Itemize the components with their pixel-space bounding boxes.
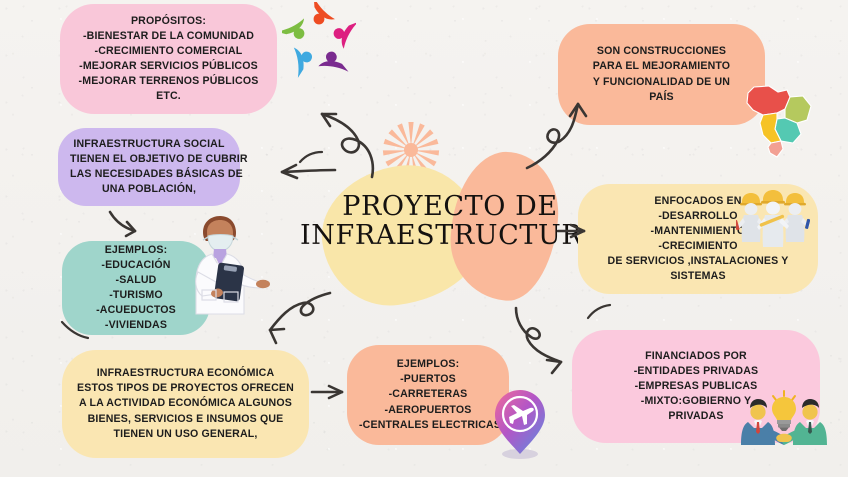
node-economica-line-1: ESTOS TIPOS DE PROYECTOS OFRECEN [74, 381, 297, 396]
node-propositos-line-1: -BIENESTAR DE LA COMUNIDAD [72, 29, 265, 44]
page-title: PROYECTO DE INFRAESTRUCTURA [300, 192, 600, 250]
node-ejemplos-social-line-0: EJEMPLOS: [74, 243, 198, 258]
node-ejemplos-econ-line-2: -CARRETERAS [359, 387, 497, 402]
node-propositos-line-0: PROPÓSITOS: [72, 14, 265, 29]
node-economica-line-4: TIENEN UN USO GENERAL, [74, 427, 297, 442]
node-construcciones-line-3: PAÍS [570, 90, 753, 105]
center-topic-group: PROYECTO DE INFRAESTRUCTURA [300, 150, 600, 320]
node-infraestructura-social[interactable]: INFRAESTRUCTURA SOCIAL TIENEN EL OBJETIV… [58, 128, 240, 206]
node-construcciones-line-1: PARA EL MEJORAMIENTO [570, 59, 753, 74]
node-construcciones-line-2: Y FUNCIONALIDAD DE UN [570, 75, 753, 90]
community-people-icon [282, 2, 356, 80]
node-ejemplos-social-line-4: -ACUEDUCTOS [74, 303, 198, 318]
center-title-line1: PROYECTO DE [342, 191, 558, 222]
node-propositos-line-4: -MEJORAR TERRENOS PÚBLICOS [72, 74, 265, 89]
node-ejemplos-social-line-5: -VIVIENDAS [74, 318, 198, 333]
center-title-line2: INFRAESTRUCTURA [300, 221, 600, 250]
node-ejemplos-econ-line-0: EJEMPLOS: [359, 357, 497, 372]
node-social-line-0: INFRAESTRUCTURA SOCIAL [70, 137, 228, 152]
node-ejemplos-social-line-2: -SALUD [74, 273, 198, 288]
node-social-line-2: LAS NECESIDADES BÁSICAS DE [70, 167, 228, 182]
node-financiados-line-0: FINANCIADOS POR [584, 349, 808, 364]
node-ejemplos-social-line-3: -TURISMO [74, 288, 198, 303]
brazil-map-icon [741, 79, 823, 161]
handshake-lightbulb-icon [736, 389, 832, 457]
node-construcciones-line-0: SON CONSTRUCCIONES [570, 44, 753, 59]
node-economica-line-0: INFRAESTRUCTURA ECONÓMICA [74, 366, 297, 381]
node-ejemplos-economica[interactable]: EJEMPLOS: -PUERTOS -CARRETERAS -AEROPUER… [347, 345, 509, 445]
node-social-line-3: UNA POBLACIÓN, [70, 182, 228, 197]
node-son-construcciones[interactable]: SON CONSTRUCCIONES PARA EL MEJORAMIENTO … [558, 24, 765, 125]
node-propositos-line-5: ETC. [72, 89, 265, 104]
node-economica-line-2: A LA ACTIVIDAD ECONÓMICA ALGUNOS [74, 396, 297, 411]
node-enfocados-line-5: SISTEMAS [590, 269, 806, 284]
node-financiados-line-1: -ENTIDADES PRIVADAS [584, 364, 808, 379]
node-ejemplos-econ-line-1: -PUERTOS [359, 372, 497, 387]
node-propositos[interactable]: PROPÓSITOS: -BIENESTAR DE LA COMUNIDAD -… [60, 4, 277, 114]
node-infraestructura-economica[interactable]: INFRAESTRUCTURA ECONÓMICA ESTOS TIPOS DE… [62, 350, 309, 458]
node-propositos-line-3: -MEJORAR SERVICIOS PÚBLICOS [72, 59, 265, 74]
doctor-illustration-icon [186, 214, 274, 320]
node-ejemplos-social-line-1: -EDUCACIÓN [74, 258, 198, 273]
node-propositos-line-2: -CRECIMIENTO COMERCIAL [72, 44, 265, 59]
node-economica-line-3: BIENES, SERVICIOS E INSUMOS QUE [74, 412, 297, 427]
node-ejemplos-econ-line-3: -AEROPUERTOS [359, 403, 497, 418]
node-social-line-1: TIENEN EL OBJETIVO DE CUBRIR [70, 152, 228, 167]
node-ejemplos-econ-line-4: -CENTRALES ELECTRICAS [359, 418, 497, 433]
airplane-location-pin-icon [489, 386, 551, 460]
construction-workers-icon [736, 186, 810, 256]
node-enfocados-line-4: DE SERVICIOS ,INSTALACIONES Y [590, 254, 806, 269]
